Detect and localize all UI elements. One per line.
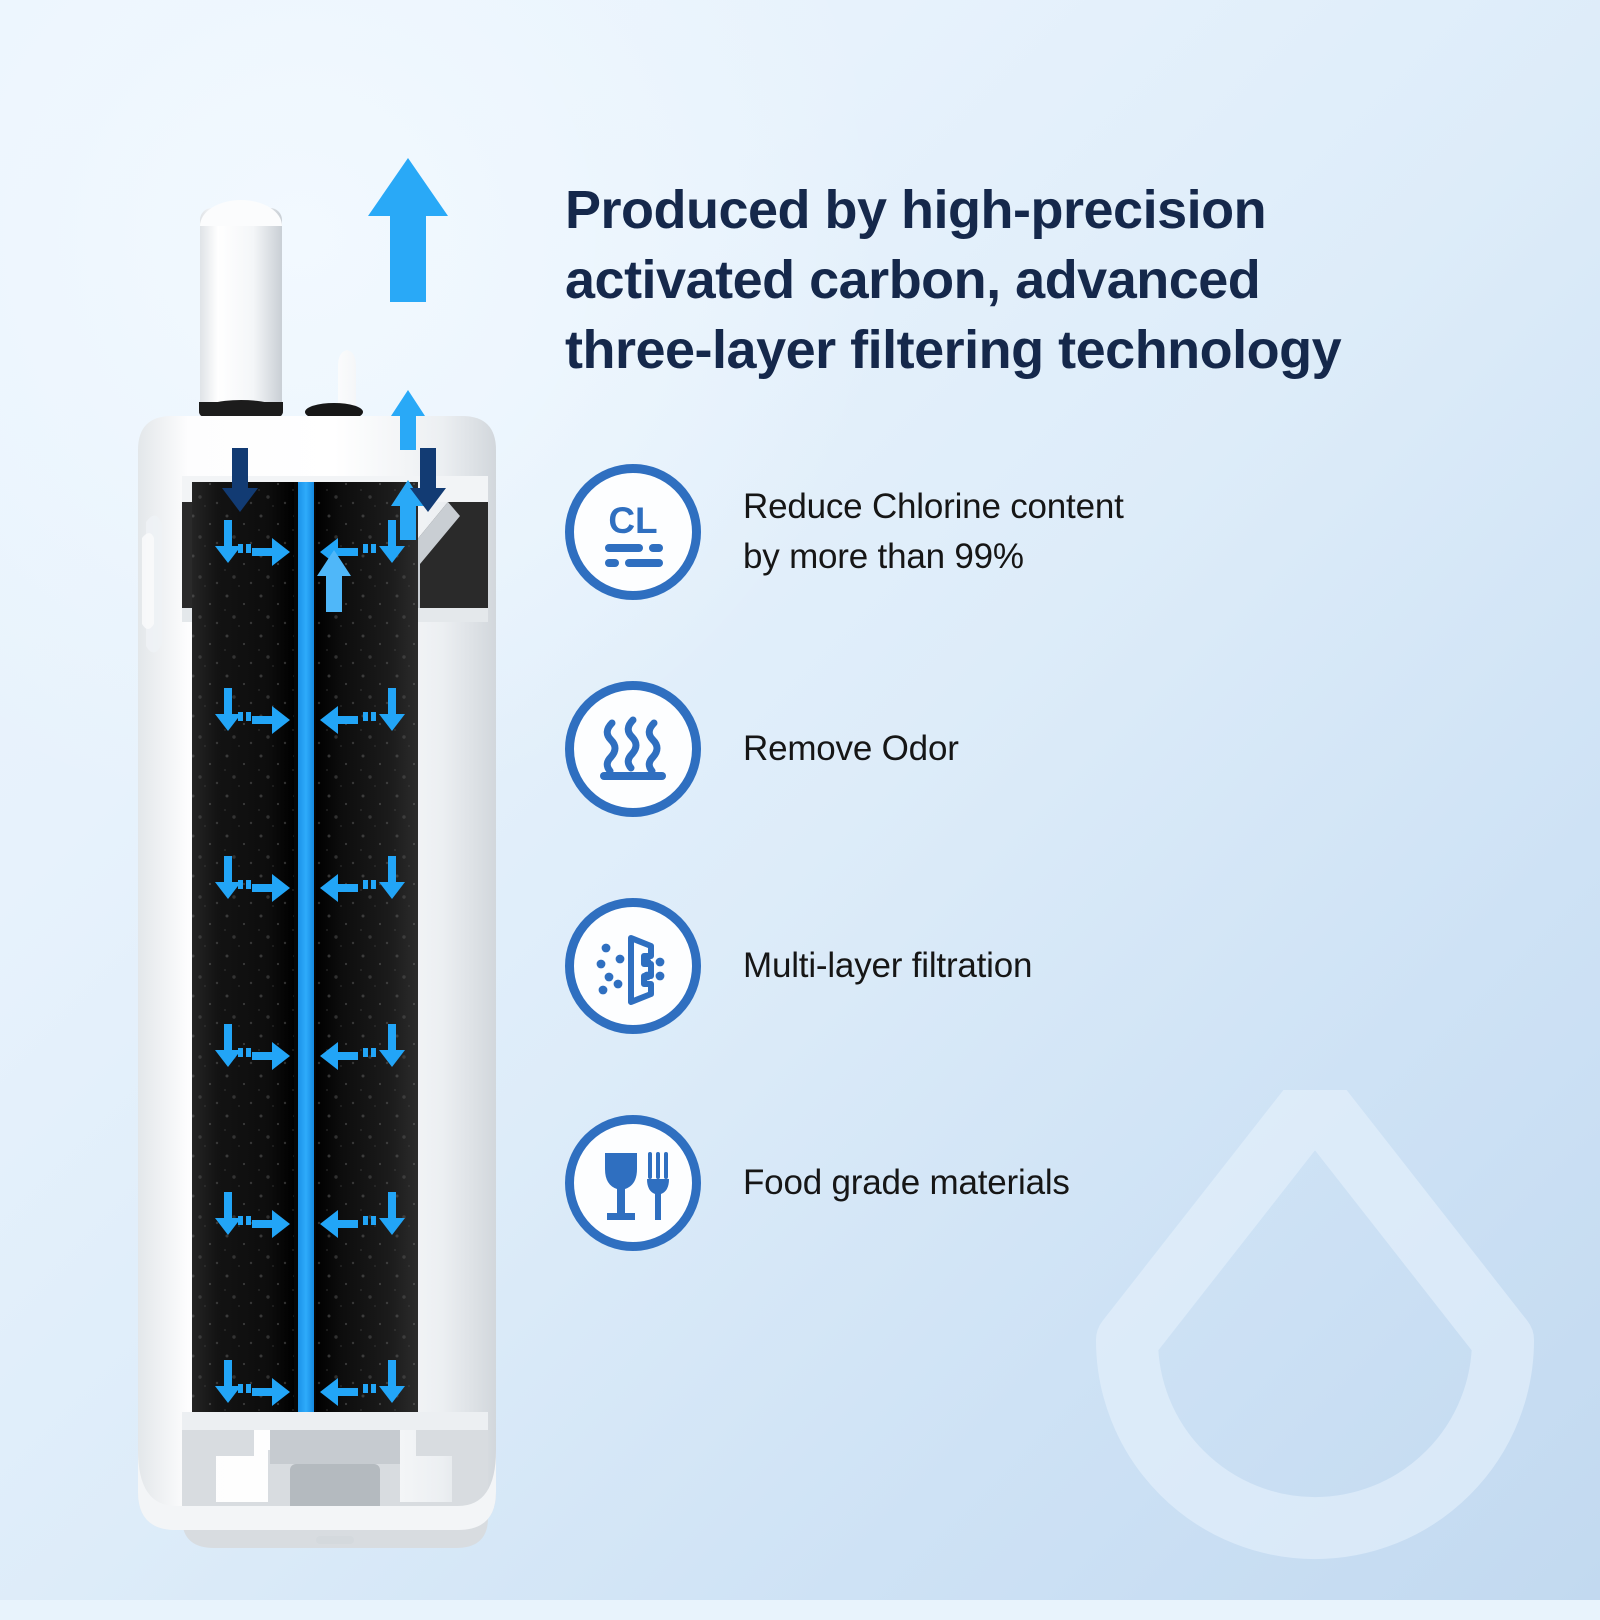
feature-label-chlorine: Reduce Chlorine content by more than 99% <box>743 482 1124 581</box>
feature-item-chlorine: CL Reduce Chlorine content by more than … <box>565 464 1525 600</box>
content-column: Produced by high-precision activated car… <box>565 175 1525 1251</box>
odor-steam-icon <box>565 681 701 817</box>
cl-icon-label: CL <box>608 500 657 541</box>
feature-item-odor: Remove Odor <box>565 681 1525 817</box>
feature-label-odor: Remove Odor <box>743 724 959 774</box>
feature-label-filtration: Multi-layer filtration <box>743 941 1032 991</box>
food-grade-glass-fork-icon <box>565 1115 701 1251</box>
multi-layer-filter-icon <box>565 898 701 1034</box>
feature-list: CL Reduce Chlorine content by more than … <box>565 464 1525 1251</box>
product-filter-cutaway-image <box>120 150 550 1570</box>
feature-label-food-grade: Food grade materials <box>743 1158 1070 1208</box>
feature-item-food-grade: Food grade materials <box>565 1115 1525 1251</box>
center-water-channel <box>298 482 314 1412</box>
chlorine-cl-icon: CL <box>565 464 701 600</box>
feature-item-filtration: Multi-layer filtration <box>565 898 1525 1034</box>
page-title: Produced by high-precision activated car… <box>565 175 1525 386</box>
outlet-spout <box>199 200 283 450</box>
infographic-page: Produced by high-precision activated car… <box>0 0 1600 1600</box>
